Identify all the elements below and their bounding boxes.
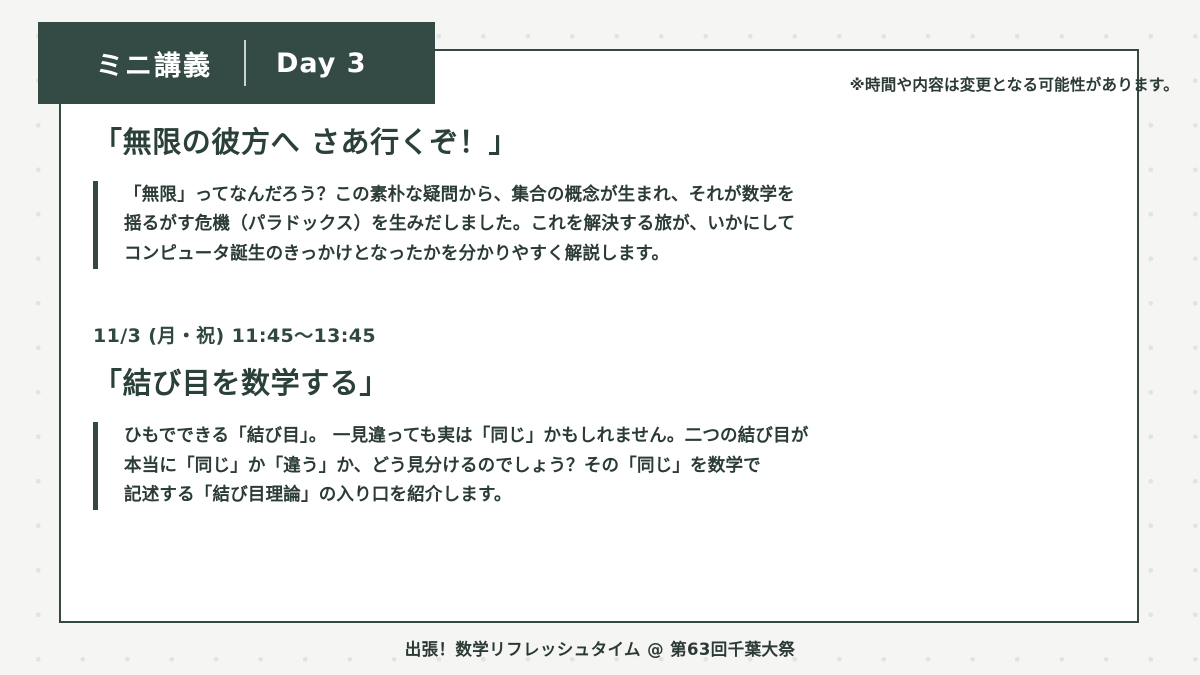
badge-divider [244, 40, 246, 86]
description-line: ひもでできる「結び目」。 一見違っても実は「同じ」かもしれません。二つの結び目が [124, 422, 809, 451]
description-line: 本当に「同じ」か「違う」か、どう見分けるのでしょう？その「同じ」を数学で [124, 452, 809, 481]
description-line: 記述する「結び目理論」の入り口を紹介します。 [124, 481, 809, 510]
session-item-1: 11/3 (月・祝) 9:30〜11:30 「無限の彼方へ さあ行くぞ！」 「無… [93, 80, 1073, 269]
accent-bar [93, 422, 98, 510]
session-spacer [93, 269, 1073, 321]
description-line: 揺るがす危機（パラドックス）を生みだしました。これを解決する旅が、いかにして [124, 210, 795, 239]
session-description-lines: 「無限」ってなんだろう？この素朴な疑問から、集合の概念が生まれ、それが数学を 揺… [124, 181, 795, 269]
notice-text: ※時間や内容は変更となる可能性があります。 [850, 73, 1179, 95]
slide-canvas: ミニ講義 Day 3 ※時間や内容は変更となる可能性があります。 11/3 (月… [0, 0, 1200, 675]
accent-bar [93, 181, 98, 269]
session-time: 11/3 (月・祝) 11:45〜13:45 [93, 321, 1073, 348]
session-list: 11/3 (月・祝) 9:30〜11:30 「無限の彼方へ さあ行くぞ！」 「無… [93, 80, 1073, 510]
session-description: ひもでできる「結び目」。 一見違っても実は「同じ」かもしれません。二つの結び目が… [93, 422, 1073, 510]
session-title: 「無限の彼方へ さあ行くぞ！」 [93, 119, 1073, 161]
description-line: コンピュータ誕生のきっかけとなったかを分かりやすく解説します。 [124, 240, 795, 269]
session-description: 「無限」ってなんだろう？この素朴な疑問から、集合の概念が生まれ、それが数学を 揺… [93, 181, 1073, 269]
footer-text: 出張！数学リフレッシュタイム @ 第63回千葉大祭 [0, 636, 1200, 660]
session-item-2: 11/3 (月・祝) 11:45〜13:45 「結び目を数学する」 ひもでできる… [93, 321, 1073, 510]
badge-day-label: Day 3 [276, 48, 367, 79]
session-title: 「結び目を数学する」 [93, 360, 1073, 402]
header-badge: ミニ講義 Day 3 [38, 22, 435, 104]
description-line: 「無限」ってなんだろう？この素朴な疑問から、集合の概念が生まれ、それが数学を [124, 181, 795, 210]
session-description-lines: ひもでできる「結び目」。 一見違っても実は「同じ」かもしれません。二つの結び目が… [124, 422, 809, 510]
badge-title: ミニ講義 [96, 44, 212, 83]
